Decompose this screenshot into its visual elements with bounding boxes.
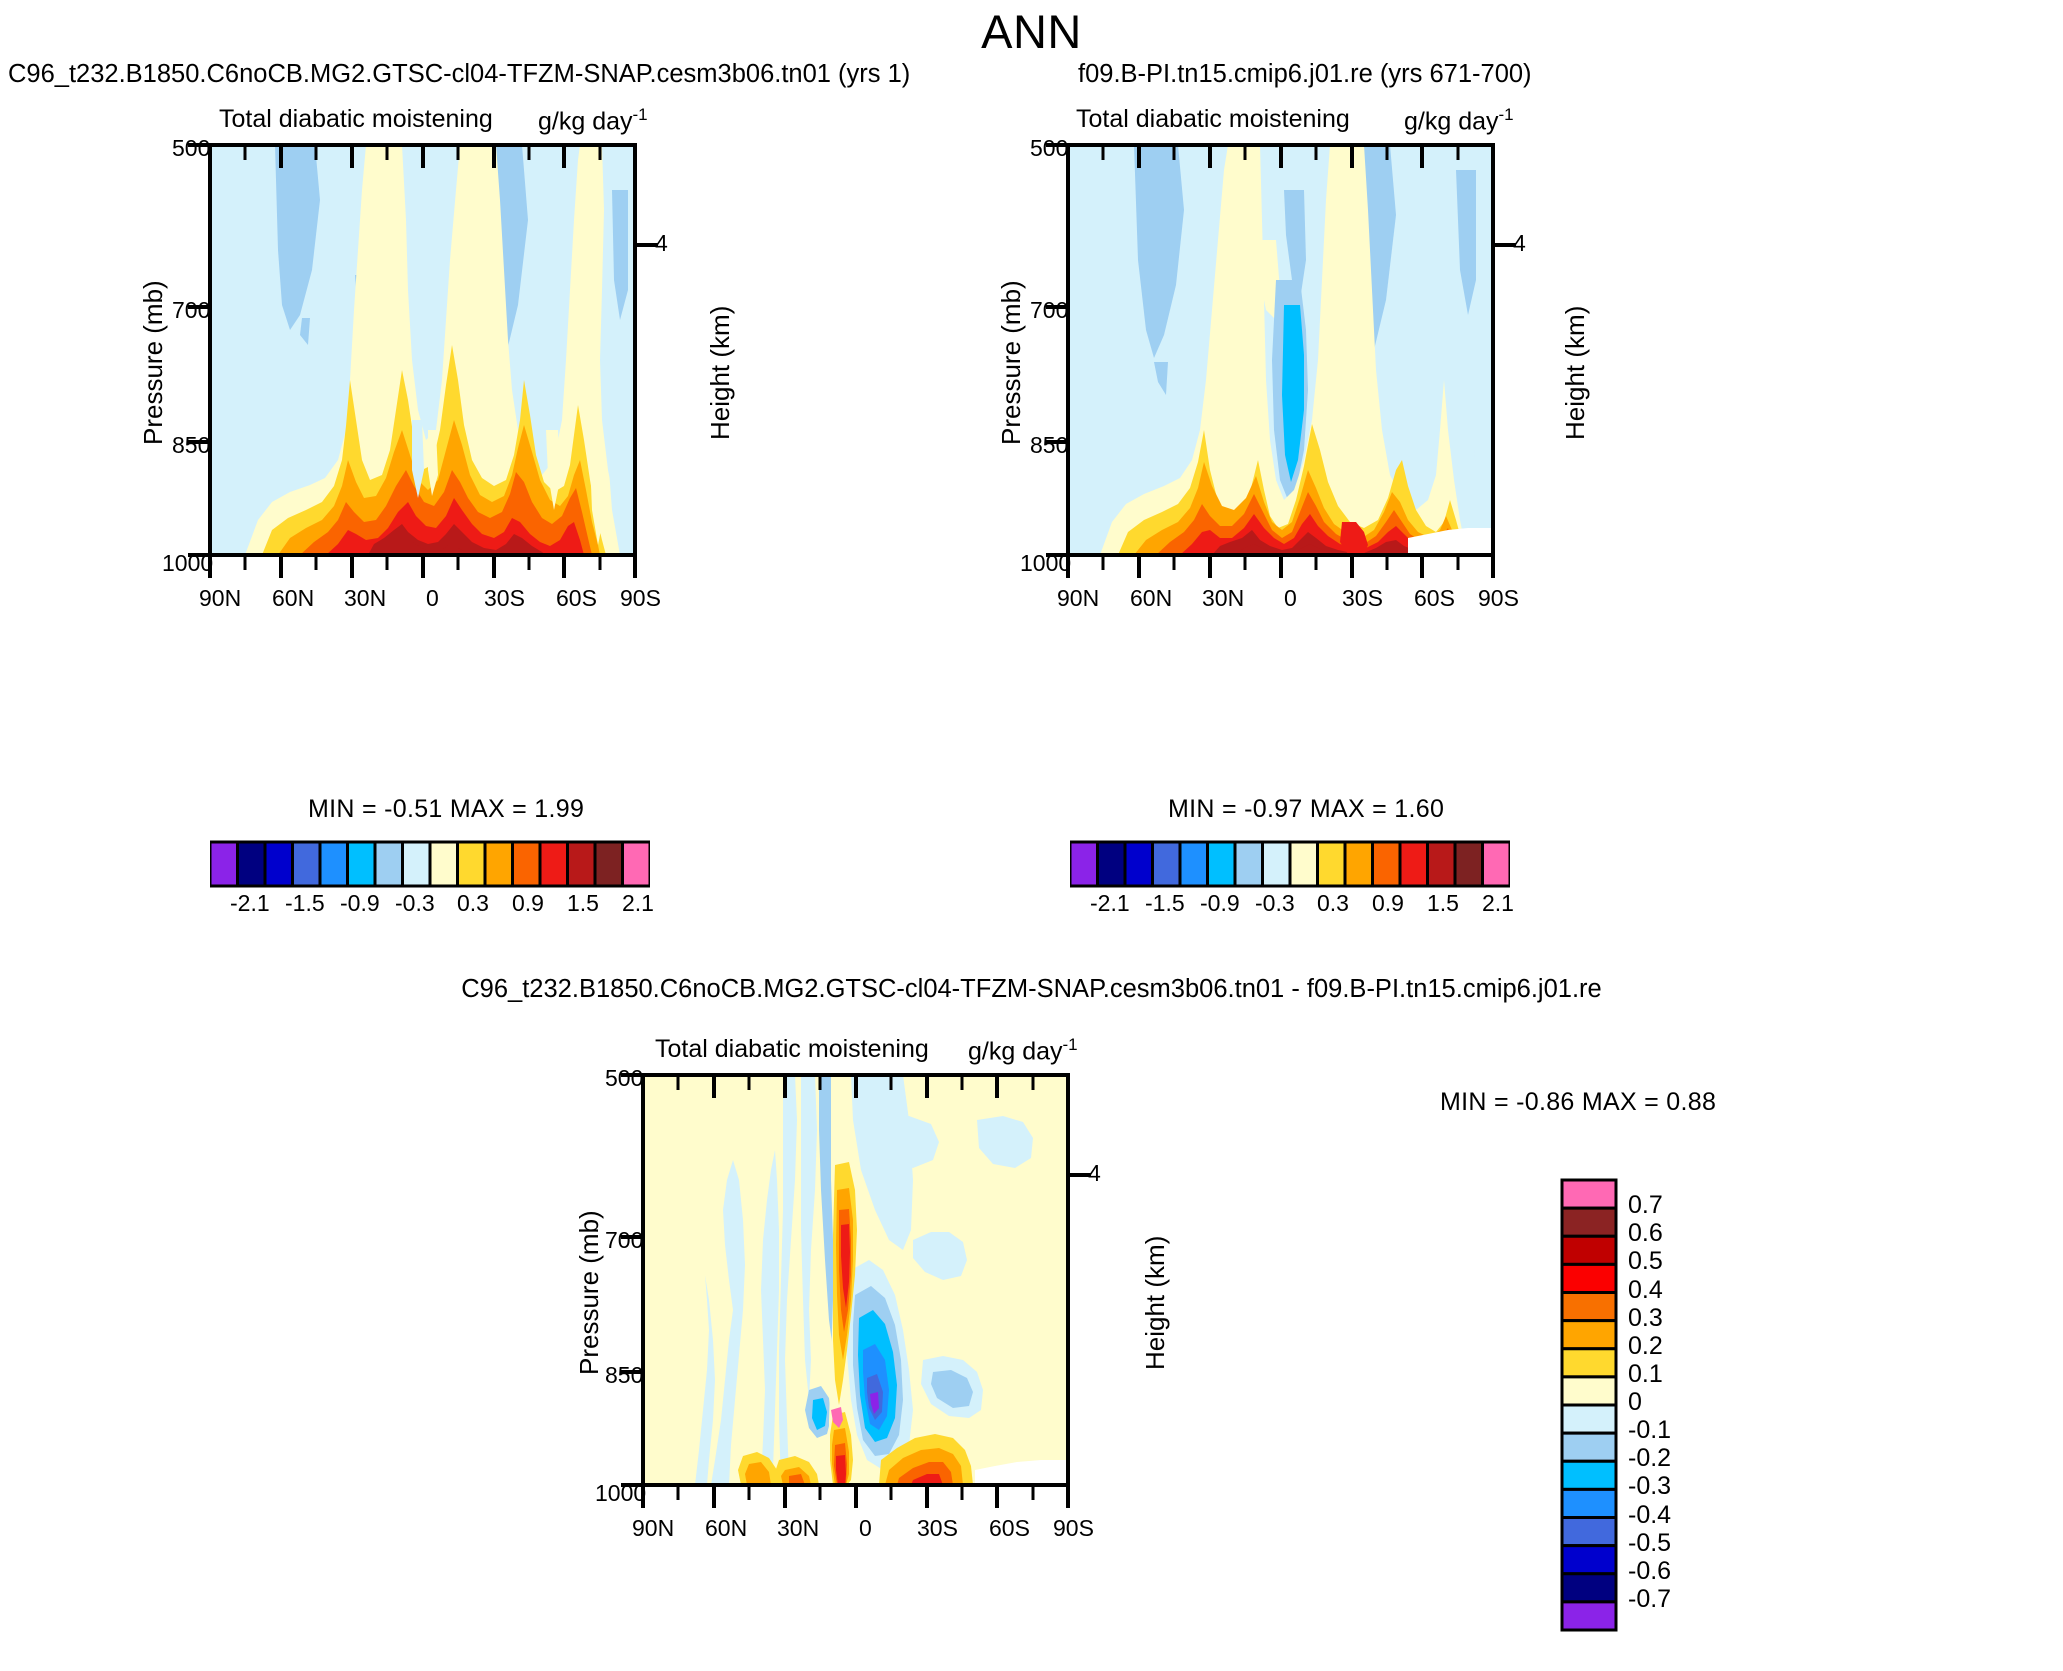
colorbar-cell: [1562, 1461, 1616, 1489]
colorbar-cell: [1483, 842, 1511, 886]
units-exponent-diff: -1: [1063, 1035, 1078, 1054]
colorbar-v-label: 0: [1628, 1388, 1642, 1417]
colorbar-v-label: -0.7: [1628, 1585, 1671, 1614]
colorbar-cell: [1562, 1518, 1616, 1546]
contour-field-left: [210, 145, 635, 555]
cb-label-right-3: -0.3: [1255, 890, 1295, 917]
colorbar-cell: [1562, 1349, 1616, 1377]
colorbar-cell: [1208, 842, 1236, 886]
right-axis-label-diff: Height (km): [1140, 1236, 1171, 1370]
panel-title-diff: C96_t232.B1850.C6noCB.MG2.GTSC-cl04-TFZM…: [0, 975, 2063, 1004]
colorbar-cell: [1180, 842, 1208, 886]
colorbar-vertical-labels: 0.70.60.50.40.30.20.10-0.1-0.2-0.3-0.4-0…: [1628, 1175, 1748, 1635]
colorbar-v-label: 0.1: [1628, 1360, 1663, 1389]
colorbar-cell: [458, 842, 486, 886]
page-title: ANN: [0, 4, 2063, 59]
cb-label-right-6: 1.5: [1427, 890, 1459, 917]
colorbar-v-label: -0.4: [1628, 1501, 1671, 1530]
colorbar-cell: [1290, 842, 1318, 886]
cb-label-left-4: 0.3: [457, 890, 489, 917]
minmax-right: MIN = -0.97 MAX = 1.60: [1168, 795, 1444, 824]
colorbar-horizontal-left[interactable]: [210, 840, 650, 890]
units-exponent-right: -1: [1499, 105, 1514, 124]
colorbar-v-label: -0.6: [1628, 1557, 1671, 1586]
colorbar-cell: [265, 842, 293, 886]
plot-diff[interactable]: [583, 1060, 1103, 1520]
colorbar-cell: [403, 842, 431, 886]
colorbar-cell: [1562, 1321, 1616, 1349]
colorbar-cell: [430, 842, 458, 886]
colorbar-cell: [595, 842, 623, 886]
colorbar-cell: [1562, 1489, 1616, 1517]
cb-label-left-7: 2.1: [622, 890, 654, 917]
cb-label-left-6: 1.5: [567, 890, 599, 917]
colorbar-cell: [1070, 842, 1098, 886]
cb-label-left-1: -1.5: [285, 890, 325, 917]
colorbar-v-label: -0.1: [1628, 1416, 1671, 1445]
cb-label-right-0: -2.1: [1090, 890, 1130, 917]
right-axis-label-right: Height (km): [1560, 306, 1591, 440]
colorbar-cell: [513, 842, 541, 886]
colorbar-cell: [1153, 842, 1181, 886]
colorbar-v-label: -0.2: [1628, 1444, 1671, 1473]
colorbar-cell: [1318, 842, 1346, 886]
cb-label-right-5: 0.9: [1372, 890, 1404, 917]
colorbar-v-label: -0.5: [1628, 1529, 1671, 1558]
colorbar-cell: [1263, 842, 1291, 886]
colorbar-v-label: 0.2: [1628, 1332, 1663, 1361]
colorbar-cell: [1098, 842, 1126, 886]
right-axis-label-left: Height (km): [705, 306, 736, 440]
colorbar-cell: [1373, 842, 1401, 886]
colorbar-v-label: 0.5: [1628, 1247, 1663, 1276]
colorbar-cell: [485, 842, 513, 886]
colorbar-vertical-diff[interactable]: [1560, 1175, 1620, 1635]
colorbar-v-label: 0.4: [1628, 1276, 1663, 1305]
colorbar-cell: [348, 842, 376, 886]
colorbar-cell: [293, 842, 321, 886]
colorbar-cell: [1562, 1208, 1616, 1236]
colorbar-cell: [1428, 842, 1456, 886]
colorbar-cell: [1562, 1264, 1616, 1292]
colorbar-cell: [1562, 1405, 1616, 1433]
plot-left[interactable]: [150, 130, 670, 590]
units-exponent-left: -1: [633, 105, 648, 124]
colorbar-cell: [1562, 1180, 1616, 1208]
cb-label-left-5: 0.9: [512, 890, 544, 917]
colorbar-cell: [210, 842, 238, 886]
colorbar-cell: [1125, 842, 1153, 886]
colorbar-cell: [1562, 1546, 1616, 1574]
cb-label-left-0: -2.1: [230, 890, 270, 917]
panel-title-left: C96_t232.B1850.C6noCB.MG2.GTSC-cl04-TFZM…: [8, 60, 910, 89]
colorbar-cell: [540, 842, 568, 886]
colorbar-v-label: 0.3: [1628, 1304, 1663, 1333]
plot-right[interactable]: [1008, 130, 1528, 590]
colorbar-horizontal-right[interactable]: [1070, 840, 1510, 890]
colorbar-cell: [568, 842, 596, 886]
colorbar-v-label: 0.7: [1628, 1191, 1663, 1220]
panel-title-right: f09.B-PI.tn15.cmip6.j01.re (yrs 671-700): [1078, 60, 1532, 89]
colorbar-cell: [375, 842, 403, 886]
colorbar-cell: [1562, 1293, 1616, 1321]
colorbar-v-label: 0.6: [1628, 1219, 1663, 1248]
colorbar-cell: [1345, 842, 1373, 886]
colorbar-cell: [1455, 842, 1483, 886]
colorbar-cell: [1562, 1602, 1616, 1630]
minmax-left: MIN = -0.51 MAX = 1.99: [308, 795, 584, 824]
colorbar-cell: [1562, 1433, 1616, 1461]
colorbar-cell: [1562, 1236, 1616, 1264]
colorbar-cell: [1562, 1377, 1616, 1405]
minmax-diff: MIN = -0.86 MAX = 0.88: [1440, 1088, 1716, 1117]
colorbar-v-label: -0.3: [1628, 1472, 1671, 1501]
cb-label-right-4: 0.3: [1317, 890, 1349, 917]
cb-label-left-3: -0.3: [395, 890, 435, 917]
cb-label-right-7: 2.1: [1482, 890, 1514, 917]
cb-label-right-2: -0.9: [1200, 890, 1240, 917]
colorbar-cell: [320, 842, 348, 886]
cb-label-left-2: -0.9: [340, 890, 380, 917]
contour-field-right: [1068, 145, 1493, 555]
colorbar-cell: [623, 842, 651, 886]
colorbar-cell: [1562, 1574, 1616, 1602]
colorbar-cell: [1235, 842, 1263, 886]
colorbar-cell: [1400, 842, 1428, 886]
cb-label-right-1: -1.5: [1145, 890, 1185, 917]
colorbar-cell: [238, 842, 266, 886]
contour-field-diff: [643, 1075, 1068, 1485]
